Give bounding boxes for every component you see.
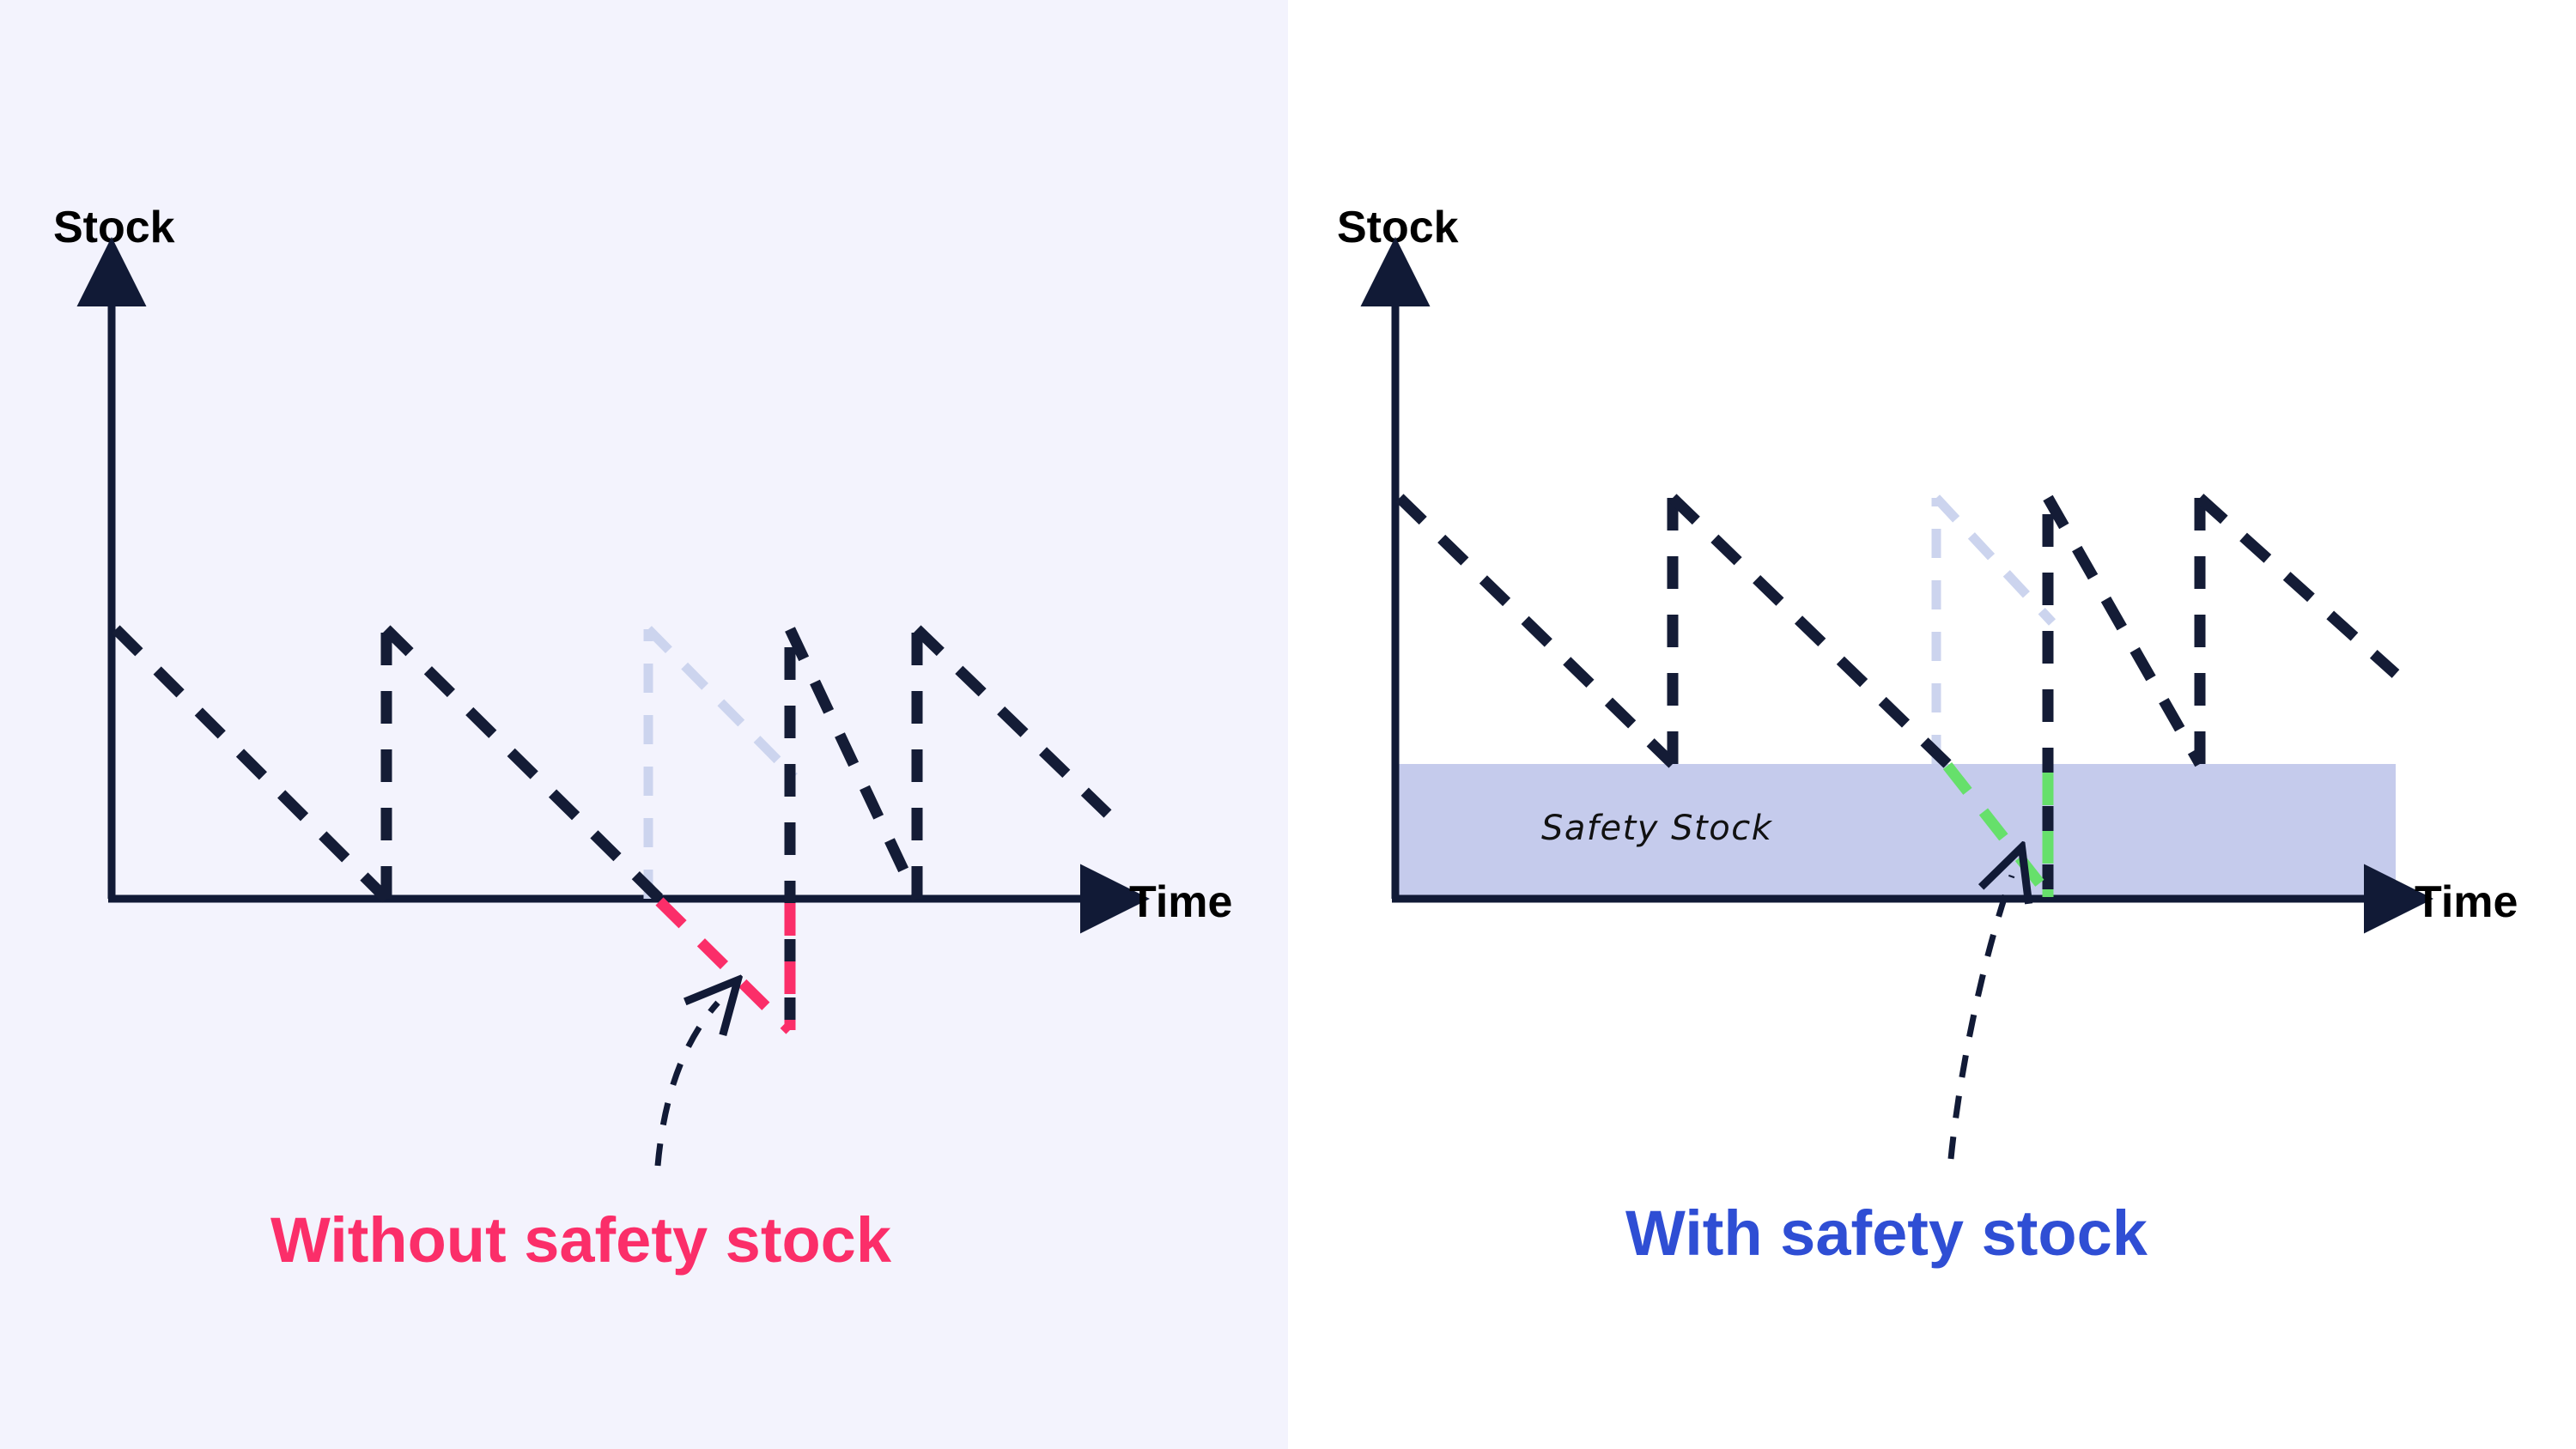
safety-stock-band-label: Safety Stock [1541,809,1773,848]
panel-title-without: Without safety stock [270,1204,892,1276]
x-axis-label-left: Time [1129,877,1232,927]
diagram-stage: Stock Time [0,0,2576,1449]
panel-title-with: With safety stock [1625,1197,2148,1269]
y-axis-label-left: Stock [53,203,175,252]
x-axis-label-right: Time [2415,877,2518,927]
y-axis-label-right: Stock [1337,203,1459,252]
safety-stock-comparison-diagram: Stock Time [0,0,2576,1449]
